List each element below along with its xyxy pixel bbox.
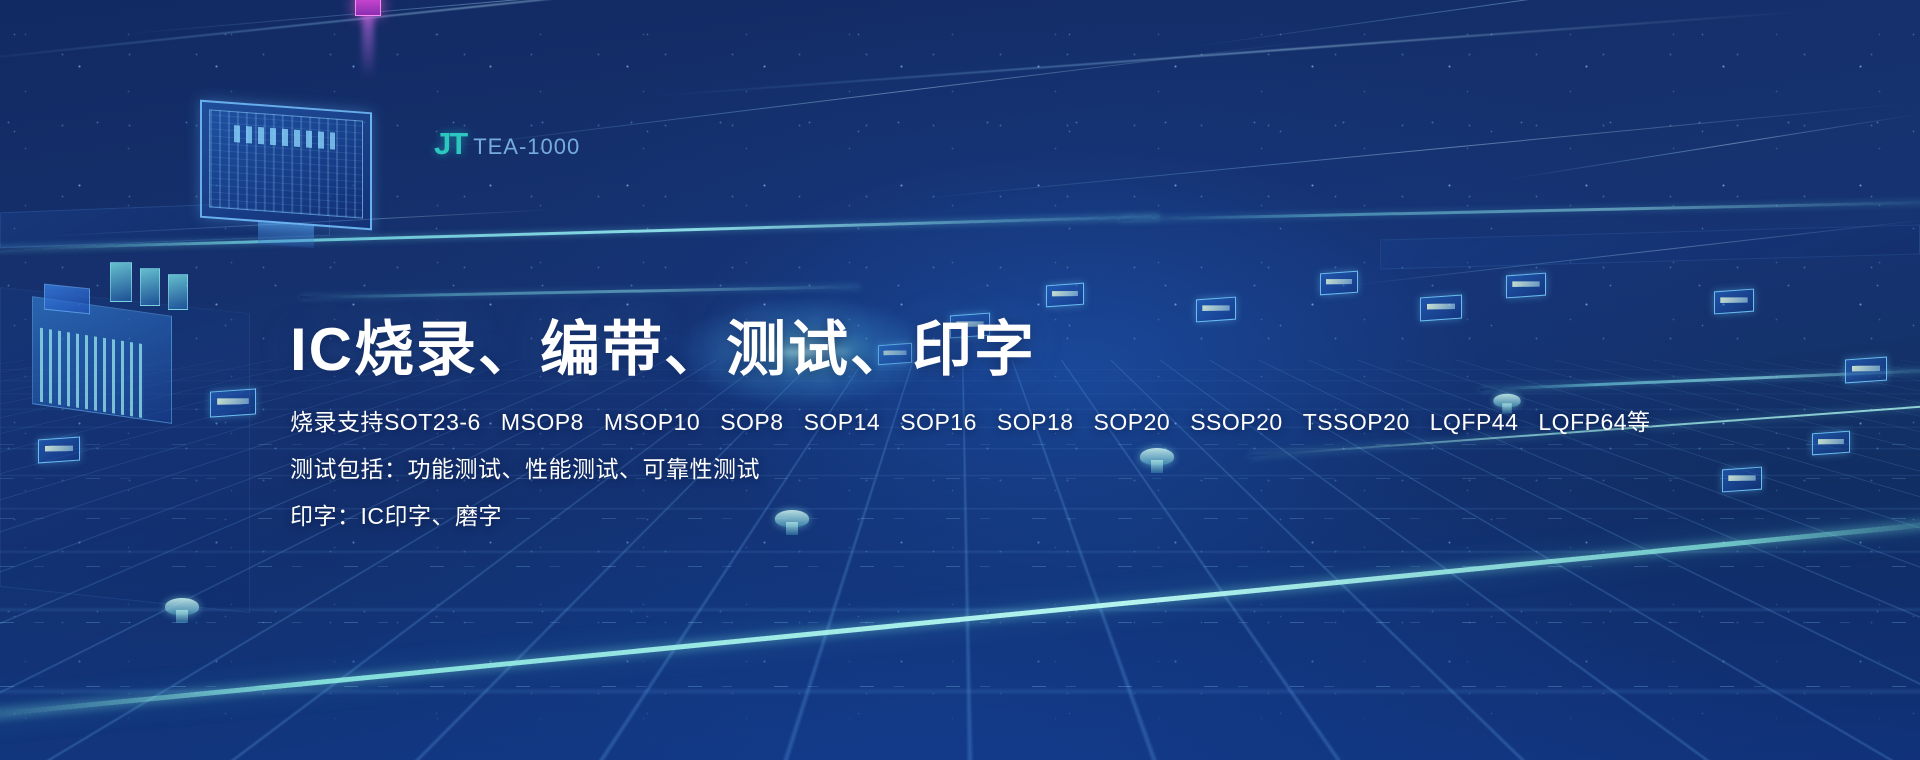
- banner-content: IC烧录、编带、测试、印字 烧录支持SOT23-6MSOP8MSOP10SOP8…: [290, 318, 1630, 528]
- package-spec: SOP14: [804, 411, 881, 434]
- package-spec: SOP16: [900, 411, 977, 434]
- monitor-ic-row: [234, 126, 334, 150]
- chip-tray-icon: [1845, 357, 1887, 384]
- chip-tray-icon: [210, 388, 256, 417]
- monitor-stand: [258, 222, 314, 248]
- chip-tray-icon: [1046, 283, 1084, 308]
- page-title: IC烧录、编带、测试、印字: [290, 318, 1630, 381]
- light-streak: [1180, 0, 1913, 49]
- light-streak: [1500, 113, 1920, 181]
- monitor-illustration: [200, 106, 372, 224]
- shelf-rail: [1120, 201, 1920, 221]
- chip-tray-icon: [1714, 289, 1754, 315]
- package-spec: MSOP8: [501, 411, 584, 434]
- marker-light-beam: [362, 14, 374, 78]
- magenta-marker-icon: [355, 0, 381, 16]
- light-streak: [0, 0, 915, 64]
- light-streak: [120, 0, 877, 35]
- burn-prefix-label: 烧录支持: [290, 409, 384, 435]
- package-spec: LQFP64等: [1538, 411, 1650, 434]
- subline-burn-support: 烧录支持SOT23-6MSOP8MSOP10SOP8SOP14SOP16SOP1…: [290, 411, 1630, 434]
- banner-sublines: 烧录支持SOT23-6MSOP8MSOP10SOP8SOP14SOP16SOP1…: [290, 411, 1630, 528]
- floor-trace-line: [0, 566, 1920, 567]
- light-streak: [900, 102, 1915, 201]
- logo-model-text: TEA-1000: [473, 134, 580, 160]
- package-spec: MSOP10: [604, 411, 700, 434]
- package-spec: SOP8: [720, 411, 783, 434]
- conveyor-roller: [165, 598, 199, 615]
- package-spec: SOP20: [1094, 411, 1171, 434]
- machine-head: [110, 262, 132, 302]
- subline-testing: 测试包括：功能测试、性能测试、可靠性测试: [290, 458, 1630, 481]
- light-streak: [640, 10, 1817, 98]
- logo-mark-text: JT: [434, 126, 466, 162]
- machine-head: [168, 274, 188, 310]
- package-spec: SOT23-6: [384, 411, 481, 434]
- monitor-screen: [209, 109, 363, 218]
- brand-logo: JT TEA-1000: [434, 126, 580, 162]
- chip-tray-icon: [1722, 467, 1762, 493]
- chip-tray-icon: [38, 437, 80, 464]
- package-spec: SOP18: [997, 411, 1074, 434]
- package-spec: TSSOP20: [1303, 411, 1410, 434]
- subline-marking: 印字：IC印字、磨字: [290, 505, 1630, 528]
- package-spec: LQFP44: [1430, 411, 1519, 434]
- package-spec: SSOP20: [1190, 411, 1283, 434]
- chip-tray-icon: [1812, 431, 1850, 456]
- hero-banner: JT TEA-1000 IC烧录、编带、测试、印字 烧录支持SOT23-6MSO…: [0, 0, 1920, 760]
- machinery-illustration: [14, 258, 190, 438]
- machine-head: [140, 268, 160, 306]
- floor-trace-line: [0, 622, 1920, 623]
- package-spec-list: SOT23-6MSOP8MSOP10SOP8SOP14SOP16SOP18SOP…: [384, 409, 1651, 435]
- structure-panel: [1380, 224, 1920, 269]
- chip-tray-icon: [1320, 271, 1358, 296]
- chip-tray-icon: [1506, 273, 1546, 299]
- machine-control-box: [44, 284, 90, 315]
